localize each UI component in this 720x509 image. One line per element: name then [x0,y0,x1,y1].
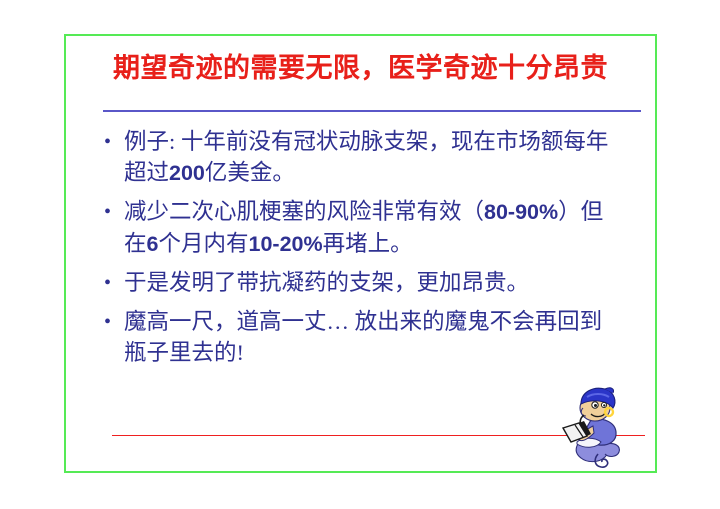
page-title: 期望奇迹的需要无限，医学奇迹十分昂贵 [64,53,657,84]
bullet-1-text: 例子: 十年前没有冠状动脉支架，现在市场额每年超过200亿美金。 [124,126,624,189]
list-item: • 于是发明了带抗凝药的支架，更加昂贵。 [104,267,624,299]
title-divider-rule [103,110,641,112]
bullet-4-text: 魔高一尺，道高一丈… 放出来的魔鬼不会再回到瓶子里去的! [124,306,624,368]
bullet-marker-icon: • [104,126,124,158]
list-item: • 例子: 十年前没有冠状动脉支架，现在市场额每年超过200亿美金。 [104,126,624,189]
bullet-marker-icon: • [104,196,124,228]
bullet-list: • 例子: 十年前没有冠状动脉支架，现在市场额每年超过200亿美金。 • 减少二… [104,126,624,375]
bullet-marker-icon: • [104,306,124,338]
bullet-3-text: 于是发明了带抗凝药的支架，更加昂贵。 [124,267,624,298]
bullet-2-text: 减少二次心肌梗塞的风险非常有效（80-90%）但在6个月内有10-20%再堵上。 [124,196,624,260]
bullet-marker-icon: • [104,267,124,299]
genie-clipart-icon [553,384,635,470]
slide-canvas: 期望奇迹的需要无限，医学奇迹十分昂贵 • 例子: 十年前没有冠状动脉支架，现在市… [0,0,720,509]
list-item: • 魔高一尺，道高一丈… 放出来的魔鬼不会再回到瓶子里去的! [104,306,624,368]
list-item: • 减少二次心肌梗塞的风险非常有效（80-90%）但在6个月内有10-20%再堵… [104,196,624,260]
